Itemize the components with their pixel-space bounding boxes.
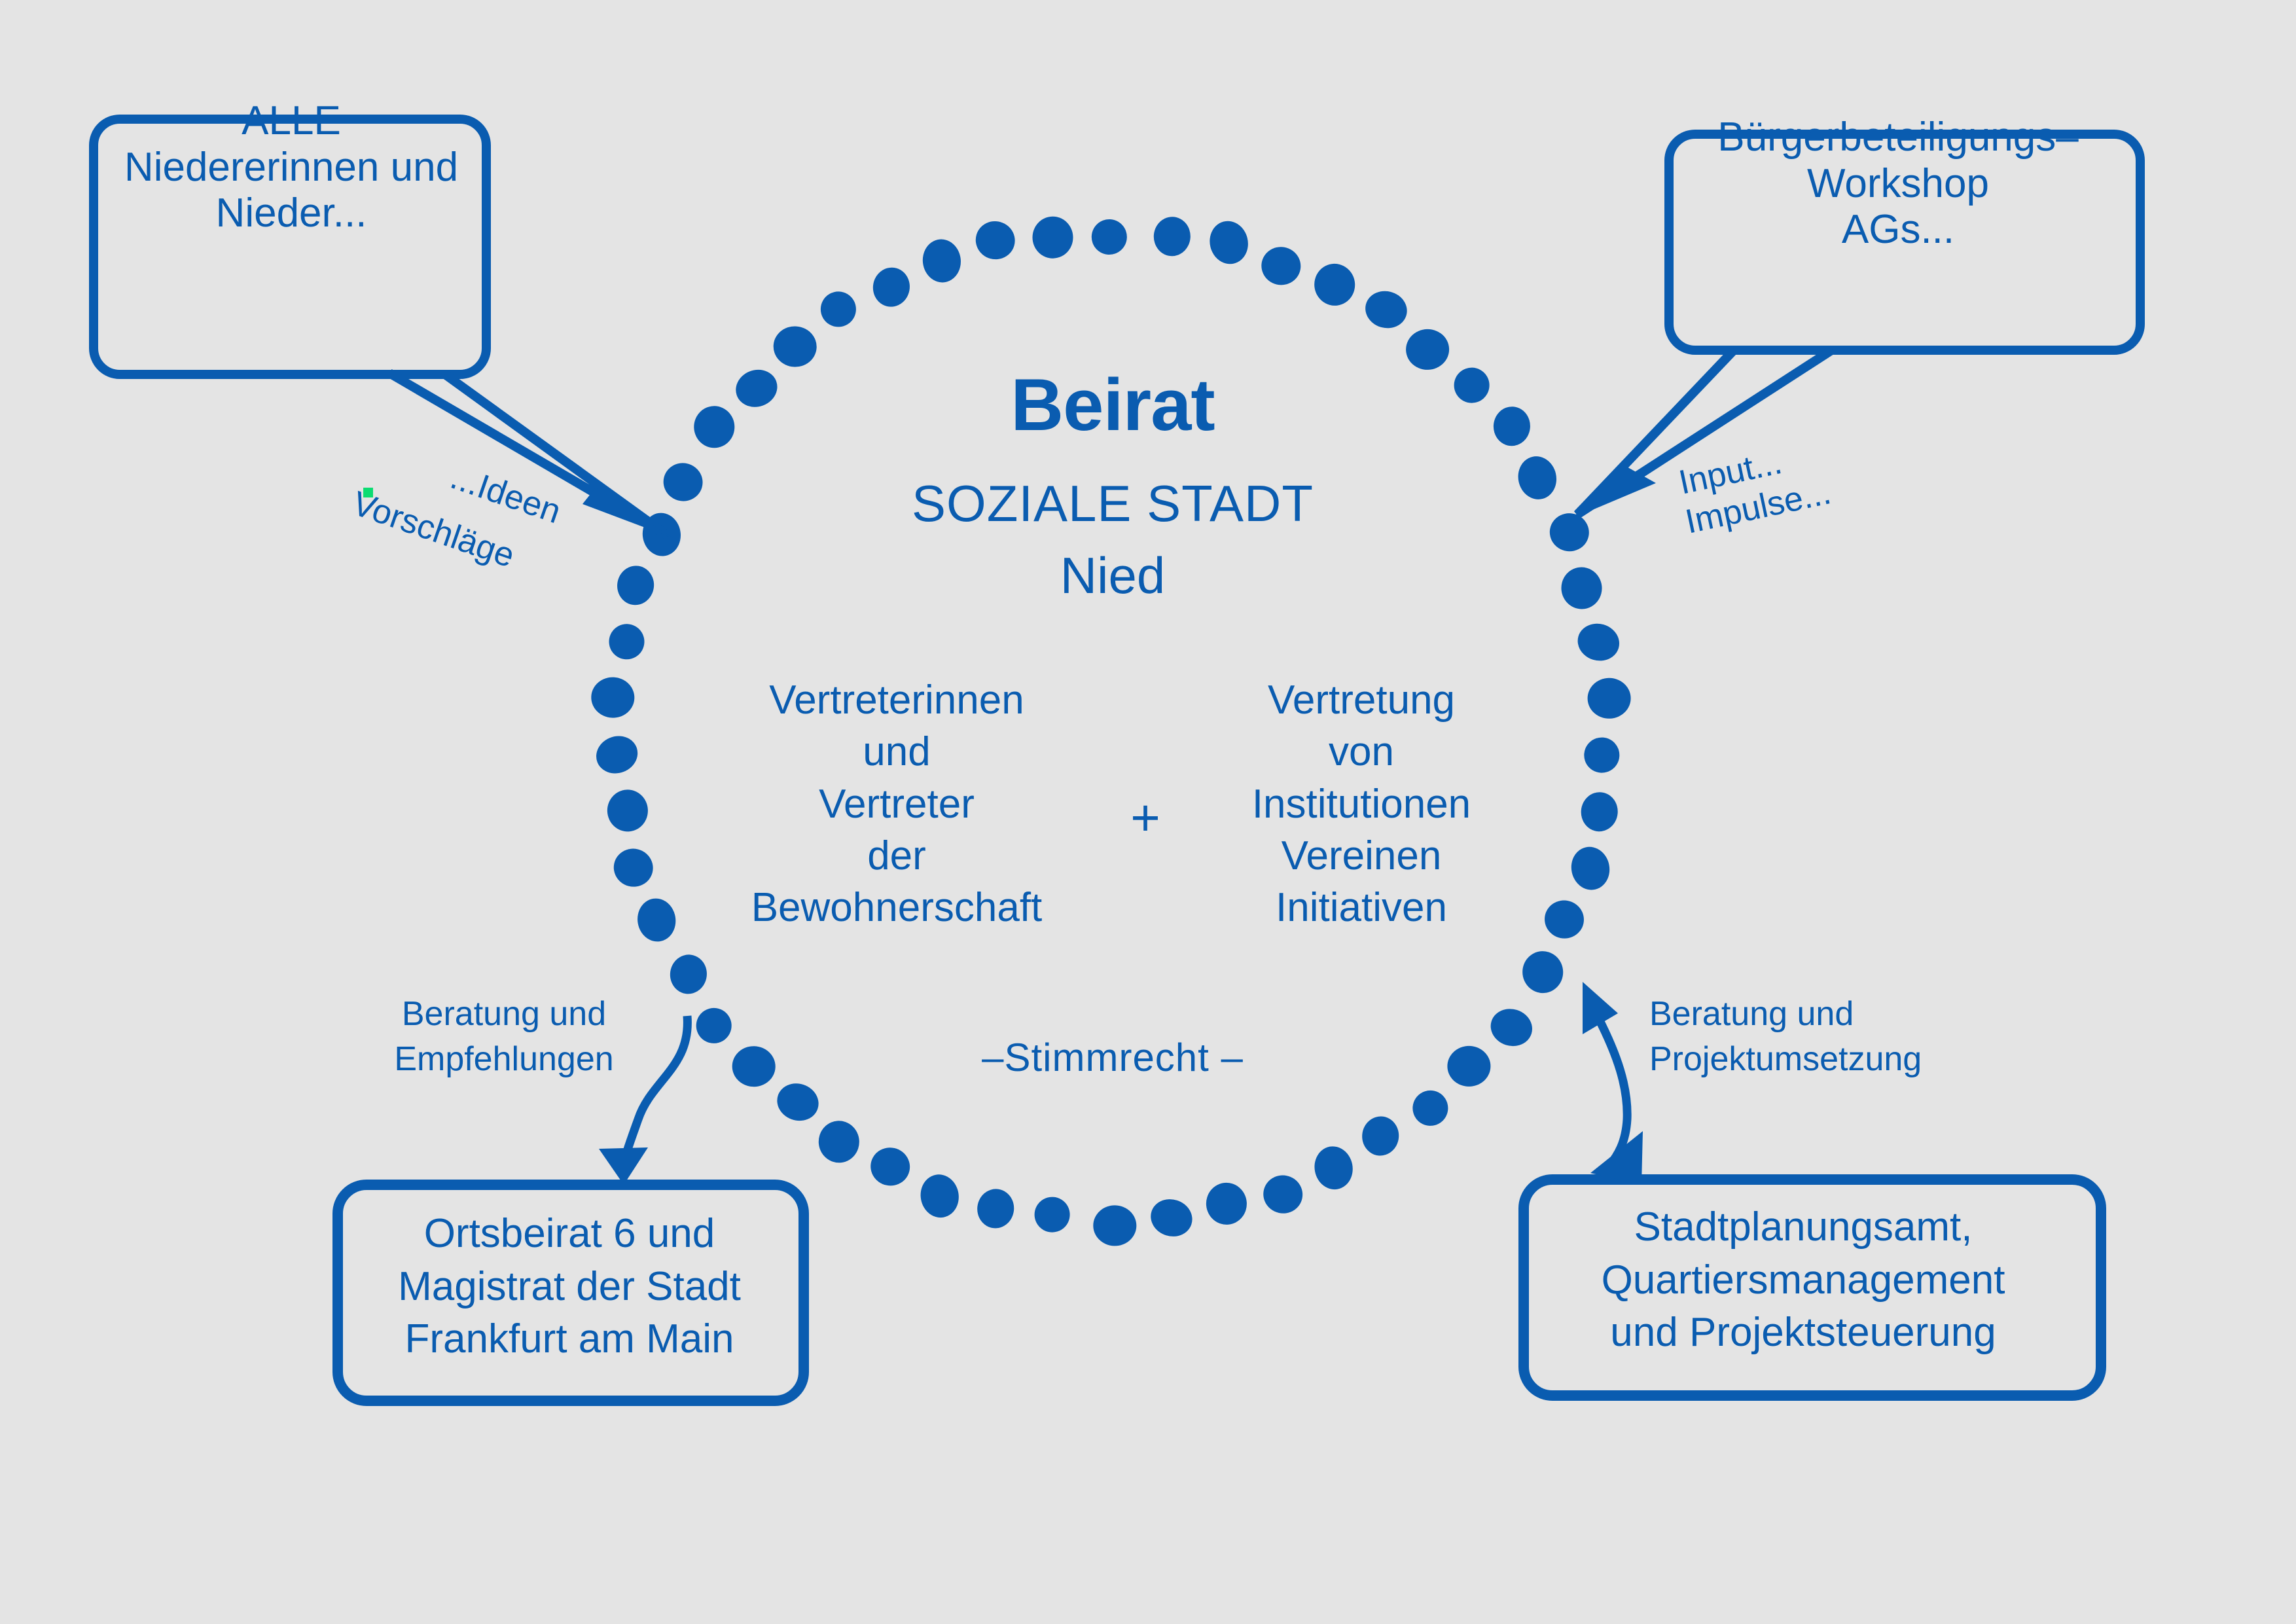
ring-dot xyxy=(610,844,657,891)
ring-dot xyxy=(920,237,963,285)
ring-dot xyxy=(1541,897,1587,941)
ring-dot xyxy=(971,217,1020,264)
ring-dot xyxy=(1360,1115,1401,1158)
ring-dot xyxy=(1361,287,1411,333)
ring-dot xyxy=(975,1187,1016,1230)
ring-dot xyxy=(1146,1194,1197,1242)
box-stadtplanungsamt-label: Stadtplanungsamt, Quartiersmanagement un… xyxy=(1532,1201,2075,1360)
ring-dot xyxy=(668,952,709,996)
ring-dot xyxy=(1408,1086,1452,1130)
ring-dot xyxy=(1514,452,1560,503)
diagram-canvas: ALLE Niedererinnen und Nieder... Bürgerb… xyxy=(0,0,2296,1624)
ring-dot xyxy=(772,1078,824,1127)
ring-dot xyxy=(1030,1193,1074,1236)
ring-dot xyxy=(1520,949,1565,995)
page-title: Beirat xyxy=(779,363,1446,447)
ring-dot xyxy=(1559,565,1604,611)
ring-dot xyxy=(1573,619,1624,665)
ring-dot xyxy=(917,1172,962,1221)
ring-dot xyxy=(1568,843,1613,893)
arrow-beirat-stadtplanungsamt xyxy=(1583,982,1643,1185)
ring-dot xyxy=(1311,1143,1357,1193)
ring-dot xyxy=(634,895,679,944)
ring-dot xyxy=(590,676,636,719)
ring-dot xyxy=(1486,1004,1537,1051)
bubble-left-label: ALLE Niedererinnen und Nieder... xyxy=(75,98,507,237)
ring-dot xyxy=(693,405,735,448)
circle-left-column: Vertreterinnen und Vertreter der Bewohne… xyxy=(713,674,1080,934)
ring-dot xyxy=(732,1045,776,1087)
ring-dot xyxy=(1259,244,1303,288)
plus-icon: + xyxy=(1080,789,1211,847)
ring-dot xyxy=(606,789,649,833)
circle-subtitle-line1: SOZIALE STADT xyxy=(779,475,1446,533)
ring-dot xyxy=(817,1119,861,1164)
box-ortsbeirat-label: Ortsbeirat 6 und Magistrat der Stadt Fra… xyxy=(344,1208,795,1366)
ring-dot xyxy=(870,264,913,310)
ring-dot xyxy=(615,563,657,607)
ring-dot xyxy=(1579,791,1619,833)
ring-dot xyxy=(1547,510,1592,554)
ring-dot xyxy=(772,325,818,368)
ring-dot xyxy=(1492,405,1532,447)
ring-dot xyxy=(692,1004,736,1047)
annotation-beratung-empfehlungen: Beratung und Empfehlungen xyxy=(373,992,635,1081)
ring-dot xyxy=(1579,733,1624,778)
ring-dot xyxy=(1447,1046,1490,1087)
ring-dot xyxy=(1093,1205,1137,1246)
ring-dot xyxy=(1086,214,1132,259)
ring-dot xyxy=(1449,363,1494,408)
ring-dot xyxy=(1312,261,1357,308)
ring-dot xyxy=(1153,216,1191,257)
ring-dot xyxy=(591,731,643,780)
stimmrecht-note: –Stimmrecht – xyxy=(910,1036,1316,1080)
ring-dot xyxy=(867,1144,914,1189)
ring-dot xyxy=(1205,217,1252,268)
ring-dot xyxy=(605,621,648,663)
ring-dot xyxy=(1032,216,1073,259)
circle-subtitle-line2: Nied xyxy=(779,547,1446,605)
ring-dot xyxy=(1260,1172,1306,1217)
ring-dot xyxy=(1204,1181,1248,1226)
ring-dot xyxy=(659,459,707,506)
annotation-beratung-projektumsetzung: Beratung und Projektumsetzung xyxy=(1649,992,1957,1081)
ring-dot xyxy=(731,364,783,412)
ring-dot xyxy=(1587,677,1631,719)
circle-right-column: Vertretung von Institutionen Vereinen In… xyxy=(1211,674,1512,934)
ring-dot xyxy=(817,288,860,331)
bubble-right-label: Bürgerbeteiligungs– Workshop AGs... xyxy=(1682,115,2114,253)
